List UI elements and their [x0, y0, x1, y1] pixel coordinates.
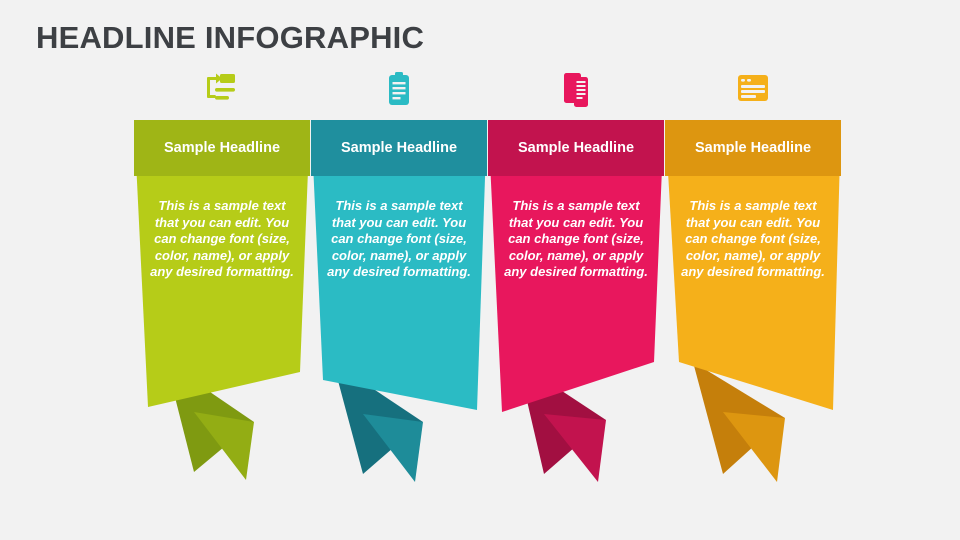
panel-1-icon-wrap: [134, 68, 310, 114]
panel-2-icon-wrap: [311, 68, 487, 114]
list-arrow-icon: [199, 71, 245, 111]
panel-4-headline-text: Sample Headline: [695, 140, 811, 156]
panel-1-headline-text: Sample Headline: [164, 140, 280, 156]
panel-4-headline: Sample Headline: [665, 120, 841, 176]
clipboard-icon: [376, 71, 422, 111]
panel-2-headline: Sample Headline: [311, 120, 487, 176]
panel-3-icon-wrap: [488, 68, 664, 114]
infographic-panel-2[interactable]: Sample Headline This is a sample text th…: [311, 62, 487, 502]
panel-4-body-text: This is a sample text that you can edit.…: [679, 198, 827, 281]
infographic-banners: Sample Headline This is a sample text th…: [0, 0, 960, 540]
panel-3-body-text: This is a sample text that you can edit.…: [502, 198, 650, 281]
documents-icon: [553, 71, 599, 111]
infographic-panel-3[interactable]: Sample Headline This is a sample text th…: [488, 62, 664, 502]
panel-3-headline-text: Sample Headline: [518, 140, 634, 156]
panel-4-icon-wrap: [665, 68, 841, 114]
browser-window-icon: [730, 71, 776, 111]
panel-1-headline: Sample Headline: [134, 120, 310, 176]
panel-1-body-text: This is a sample text that you can edit.…: [148, 198, 296, 281]
panel-3-headline: Sample Headline: [488, 120, 664, 176]
panel-2-body-text: This is a sample text that you can edit.…: [325, 198, 473, 281]
infographic-panel-4[interactable]: Sample Headline This is a sample text th…: [665, 62, 841, 502]
panel-2-headline-text: Sample Headline: [341, 140, 457, 156]
infographic-panel-1[interactable]: Sample Headline This is a sample text th…: [134, 62, 310, 502]
